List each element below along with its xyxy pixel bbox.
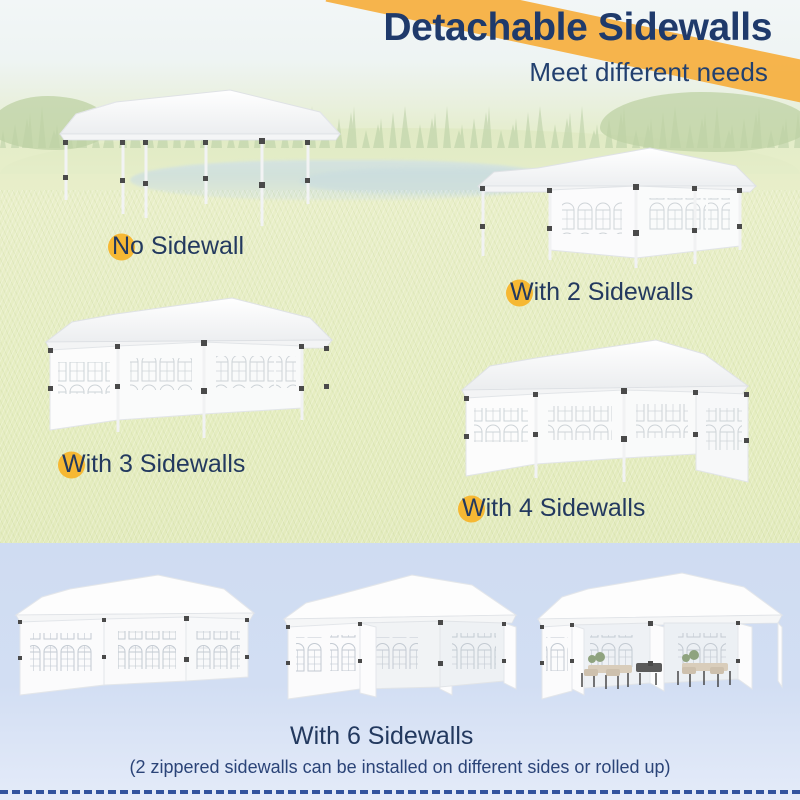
tree-icon <box>362 130 370 148</box>
label-2-sidewalls: With 2 Sidewalls <box>510 278 693 307</box>
title-block: Detachable Sidewalls Meet different need… <box>0 8 790 88</box>
tent-6-sidewalls-closed <box>8 573 268 703</box>
label-text: With 3 Sidewalls <box>62 450 245 479</box>
sidewall-caption: (2 zippered sidewalls can be installed o… <box>0 757 800 778</box>
tent-2-sidewalls <box>450 140 780 300</box>
label-4-sidewalls: With 4 Sidewalls <box>462 494 645 523</box>
tree-icon <box>432 112 438 148</box>
tent-4-sidewalls <box>448 332 778 502</box>
page-title: Detachable Sidewalls <box>0 8 790 49</box>
tree-icon <box>405 130 411 148</box>
tent-no-sidewall <box>20 78 360 238</box>
tree-icon <box>378 118 384 148</box>
label-text: With 4 Sidewalls <box>462 494 645 523</box>
label-text: With 6 Sidewalls <box>290 722 473 751</box>
tree-icon <box>416 124 424 148</box>
tent-6-sidewalls-interior <box>532 571 798 707</box>
label-6-sidewalls: With 6 Sidewalls <box>290 722 473 751</box>
label-3-sidewalls: With 3 Sidewalls <box>62 450 245 479</box>
label-no-sidewall: No Sidewall <box>112 232 244 261</box>
tree-icon <box>389 112 397 148</box>
page-subtitle: Meet different needs <box>0 57 790 88</box>
tent-6-sidewalls-open <box>272 571 534 707</box>
bottom-divider-dashed <box>0 790 800 794</box>
tent-3-sidewalls <box>32 292 362 452</box>
label-text: No Sidewall <box>112 232 244 261</box>
label-text: With 2 Sidewalls <box>510 278 693 307</box>
product-feature-image: No Sidewall <box>0 0 800 800</box>
outdoor-scene-background: No Sidewall <box>0 0 800 543</box>
